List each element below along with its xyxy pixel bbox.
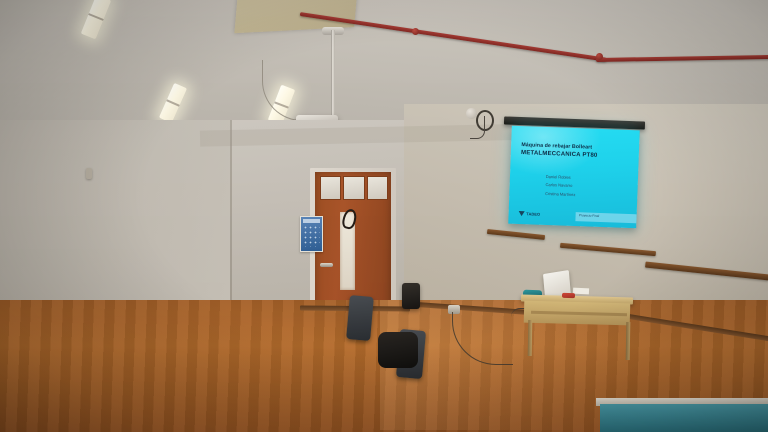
bag-on-floor xyxy=(402,283,420,309)
desk-item-papers xyxy=(573,288,589,295)
slide-logo: TADEO xyxy=(519,211,540,217)
presenter-desk-leg-left xyxy=(528,320,533,356)
wall-poster xyxy=(300,216,323,252)
slide-authors: Daniel Robles Carlos Navarro Cristina Ma… xyxy=(545,173,625,201)
backpack-foreground xyxy=(378,332,418,368)
presenter-desk-leg-right xyxy=(626,322,631,360)
slide-logo-text: TADEO xyxy=(526,211,540,216)
door-glass-pane-1 xyxy=(320,176,341,200)
desk-item-marker xyxy=(562,293,575,298)
slide-footer: TADEO Proyecto Final xyxy=(508,208,636,224)
wall-corner-seam xyxy=(230,120,232,310)
door-handle[interactable] xyxy=(320,263,333,267)
left-wall xyxy=(0,120,230,320)
slide-footer-bar: Proyecto Final xyxy=(575,212,637,223)
slide-author-3: Cristina Martínez xyxy=(545,190,625,201)
side-counter xyxy=(600,404,768,432)
wall-speaker-cable xyxy=(470,116,485,139)
slide-footer-note: Proyecto Final xyxy=(579,213,600,218)
projection-screen: Máquina de rebajar Bolleart METALMECCANI… xyxy=(508,126,640,229)
pipe-joint-1 xyxy=(412,28,419,35)
wall-fixture xyxy=(86,168,92,179)
door-glass-pane-3 xyxy=(367,176,388,200)
chair-back-1[interactable] xyxy=(346,295,374,341)
door-glass-pane-2 xyxy=(343,176,365,200)
pipe-joint-2 xyxy=(596,53,603,60)
logo-mark-icon xyxy=(519,211,525,216)
classroom-photo: Máquina de rebajar Bolleart METALMECCANI… xyxy=(0,0,768,432)
